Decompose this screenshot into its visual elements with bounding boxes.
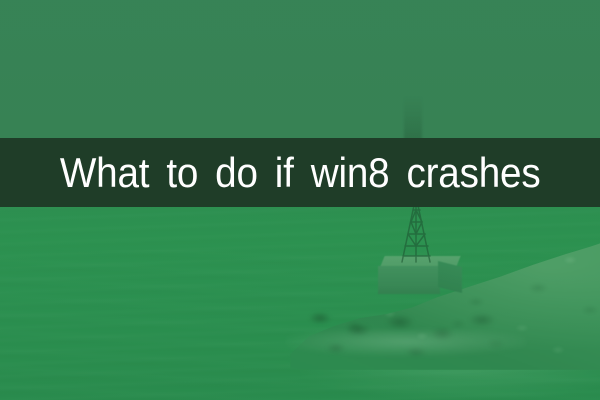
hero-image: What to do if win8 crashes [0, 0, 600, 400]
title-banner: What to do if win8 crashes [0, 138, 600, 207]
page-title: What to do if win8 crashes [60, 152, 541, 194]
waterline-foam [286, 330, 526, 356]
beacon-plinth-face [378, 266, 440, 294]
lattice-mast-upper [404, 96, 422, 140]
